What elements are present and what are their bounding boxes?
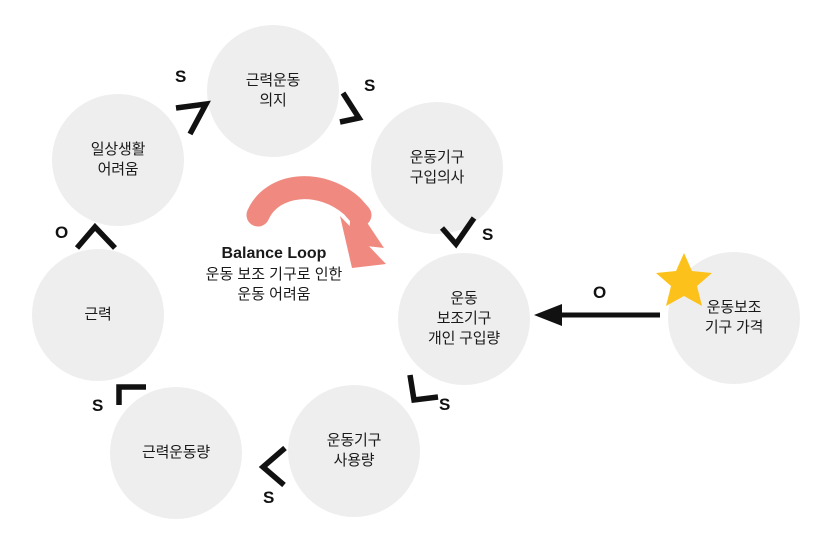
- polarity-label-exercise-to-strength: S: [92, 397, 103, 414]
- balance-loop-caption: Balance Loop 운동 보조 기구로 인한 운동 어려움: [168, 243, 380, 305]
- balance-loop-title: Balance Loop: [168, 243, 380, 265]
- diagram-canvas: 근력운동 의지 일상생활 어려움 근력 근력운동량 운동기구 사용량 운동 보조…: [0, 0, 824, 555]
- arrowhead-willpower-to-intent: [340, 93, 359, 122]
- arrow-price-to-purchase: [534, 304, 660, 326]
- node-equipment-price-label: 운동보조 기구 가격: [705, 298, 763, 339]
- polarity-label-strength-to-daily: O: [55, 224, 68, 241]
- polarity-label-usage-to-exercise: S: [263, 489, 274, 506]
- arrowhead-daily-to-willpower: [176, 104, 206, 134]
- arrowhead-usage-to-exercise: [263, 448, 285, 485]
- polarity-label-intent-to-purchase: S: [482, 226, 493, 243]
- polarity-label-price-to-purchase: O: [593, 284, 606, 301]
- node-exercise-amount[interactable]: 근력운동량: [110, 387, 242, 519]
- node-exercise-amount-label: 근력운동량: [142, 443, 210, 463]
- node-daily-difficulty-label: 일상생활 어려움: [91, 140, 145, 181]
- node-purchase-intent[interactable]: 운동기구 구입의사: [371, 102, 503, 234]
- arrowhead-purchase-to-usage: [410, 375, 438, 400]
- node-daily-difficulty[interactable]: 일상생활 어려움: [52, 94, 184, 226]
- arrowhead-strength-to-daily: [77, 227, 115, 248]
- polarity-label-daily-to-willpower: S: [175, 68, 186, 85]
- node-equipment-usage[interactable]: 운동기구 사용량: [288, 385, 420, 517]
- node-willpower[interactable]: 근력운동 의지: [207, 25, 339, 157]
- polarity-label-purchase-to-usage: S: [439, 396, 450, 413]
- node-purchase-intent-label: 운동기구 구입의사: [410, 148, 464, 189]
- node-willpower-label: 근력운동 의지: [246, 71, 300, 112]
- node-muscle-strength[interactable]: 근력: [32, 249, 164, 381]
- node-personal-purchase[interactable]: 운동 보조기구 개인 구입량: [398, 253, 530, 385]
- node-muscle-strength-label: 근력: [84, 305, 111, 325]
- node-equipment-price[interactable]: 운동보조 기구 가격: [668, 252, 800, 384]
- node-personal-purchase-label: 운동 보조기구 개인 구입량: [428, 289, 500, 350]
- node-equipment-usage-label: 운동기구 사용량: [327, 431, 381, 472]
- polarity-label-willpower-to-intent: S: [364, 77, 375, 94]
- balance-loop-subtitle: 운동 보조 기구로 인한 운동 어려움: [168, 265, 380, 306]
